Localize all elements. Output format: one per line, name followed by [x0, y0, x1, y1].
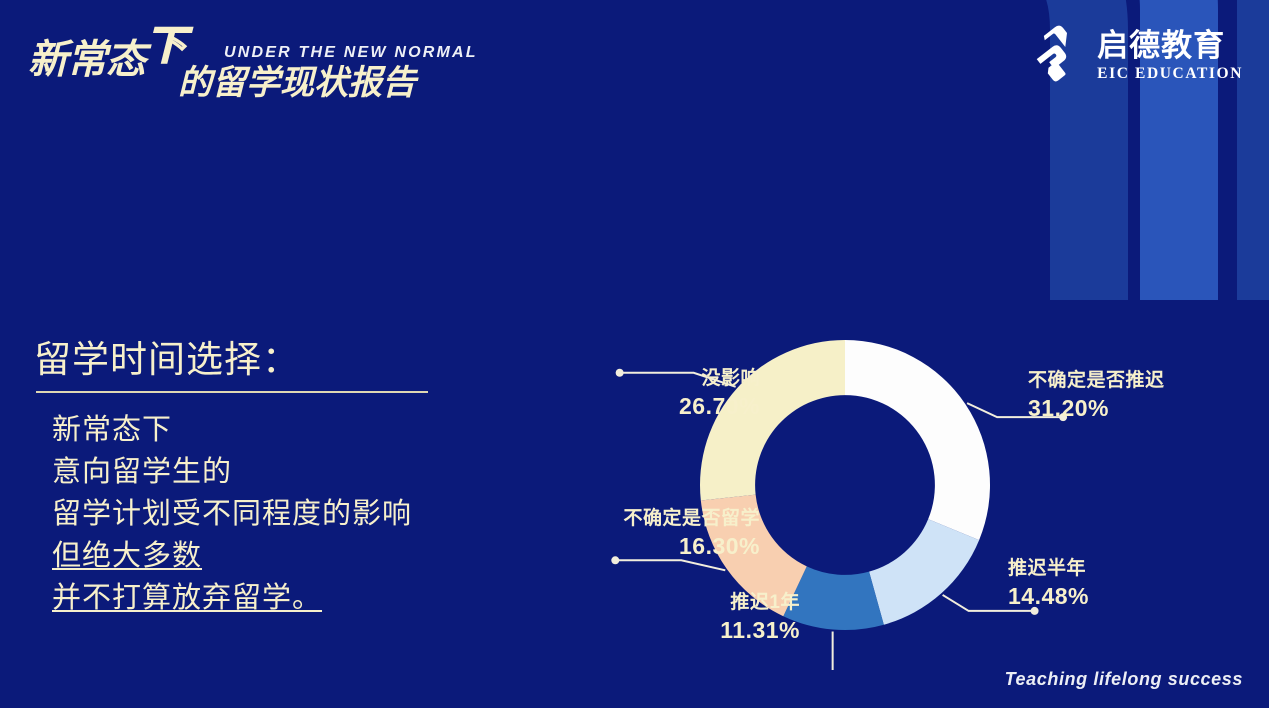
panel-line: 但绝大多数: [52, 535, 202, 577]
slide-canvas: 新常态 下 UNDER THE NEW NORMAL 的留学现状报告 启德教育 …: [0, 0, 1269, 708]
chart-label-name: 推迟1年: [670, 592, 800, 614]
chart-label-name: 不确定是否推迟: [1028, 370, 1165, 392]
brand-logo: 启德教育 EIC EDUCATION: [1027, 24, 1243, 87]
title-english-subtitle: UNDER THE NEW NORMAL: [224, 44, 478, 62]
panel-divider-rule: [36, 391, 428, 393]
chart-label-name: 推迟半年: [1008, 558, 1089, 580]
panel-heading: 留学时间选择：: [34, 340, 534, 381]
left-content-panel: 留学时间选择： 新常态下 意向留学生的 留学计划受不同程度的影响 但绝大多数 并…: [34, 340, 534, 619]
donut-segment[interactable]: [869, 519, 979, 625]
title-cn-primary: 新常态: [28, 40, 145, 80]
panel-body-lines: 新常态下 意向留学生的 留学计划受不同程度的影响 但绝大多数 并不打算放弃留学。: [52, 409, 534, 619]
panel-line: 并不打算放弃留学。: [52, 577, 322, 619]
panel-line: 留学计划受不同程度的影响: [52, 493, 412, 535]
chart-label-name: 不确定是否留学: [570, 508, 760, 530]
chart-label-value: 16.30%: [570, 533, 760, 560]
chart-leader-line: [615, 560, 725, 570]
chart-label-unsure-study: 不确定是否留学 16.30%: [570, 508, 760, 561]
chart-label-postpone-one-year: 推迟1年 11.31%: [670, 592, 800, 645]
title-cn-secondary: 的留学现状报告: [178, 66, 416, 100]
footer-tagline: Teaching lifelong success: [1005, 669, 1243, 690]
chart-label-postpone-half-year: 推迟半年 14.48%: [1008, 558, 1089, 611]
chart-label-value: 26.70%: [600, 393, 760, 420]
eic-swoosh-logo-icon: [1027, 24, 1085, 87]
chart-label-unsure-postpone: 不确定是否推迟 31.20%: [1028, 370, 1165, 423]
slide-title-lockup: 新常态 下 UNDER THE NEW NORMAL 的留学现状报告: [28, 18, 468, 96]
brand-name-en: EIC EDUCATION: [1097, 66, 1243, 82]
chart-label-name: 没影响: [600, 368, 760, 390]
brand-text-block: 启德教育 EIC EDUCATION: [1097, 30, 1243, 82]
donut-segment[interactable]: [845, 340, 990, 540]
chart-label-no-impact: 没影响 26.70%: [600, 368, 760, 421]
panel-line: 意向留学生的: [52, 451, 232, 493]
panel-line: 新常态下: [52, 409, 172, 451]
chart-label-value: 31.20%: [1028, 395, 1165, 422]
chart-label-value: 11.31%: [670, 617, 800, 644]
chart-label-value: 14.48%: [1008, 583, 1089, 610]
title-cn-outline-char: 下: [146, 26, 186, 66]
brand-name-cn: 启德教育: [1097, 30, 1243, 61]
donut-chart-area: 没影响 26.70% 不确定是否推迟 31.20% 不确定是否留学 16.30%…: [560, 340, 1260, 670]
